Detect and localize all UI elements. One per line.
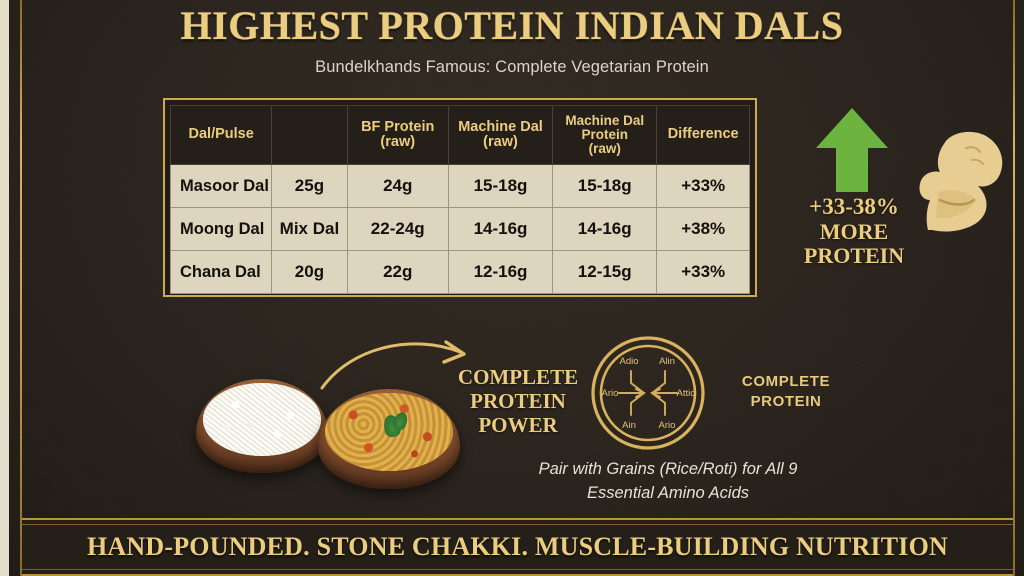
badge-label: Ario xyxy=(659,420,676,431)
cell-machine-protein: 14-16g xyxy=(553,208,657,251)
header-line-1: Machine Dal xyxy=(565,113,644,128)
cp-line-1: COMPLETE xyxy=(742,373,830,390)
complete-protein-label: COMPLETE PROTEIN xyxy=(716,372,856,413)
cell-dal-name: Masoor Dal xyxy=(171,165,272,208)
cell-dal-name: Moong Dal xyxy=(171,208,272,251)
callout-percent: +33-38% xyxy=(786,194,922,220)
cell-difference: +33% xyxy=(657,251,750,294)
cpp-line-1: COMPLETE xyxy=(458,365,578,389)
page-title: HIGHEST PROTEIN INDIAN DALS xyxy=(0,2,1024,49)
cell-mix: 20g xyxy=(272,251,347,294)
table-row: Masoor Dal 25g 24g 15-18g 15-18g +33% xyxy=(171,165,750,208)
badge-label: Adio xyxy=(619,356,638,367)
banner-rule-bottom xyxy=(22,569,1013,570)
cell-machine-dal: 14-16g xyxy=(448,208,552,251)
cell-machine-protein: 15-18g xyxy=(553,165,657,208)
table-header-row: Dal/Pulse BF Protein (raw) Machine Dal (… xyxy=(171,106,750,165)
cell-machine-protein: 12-15g xyxy=(553,251,657,294)
more-protein-callout: +33-38% MORE PROTEIN xyxy=(786,104,1016,294)
page-edge-strip-left xyxy=(0,0,9,576)
cell-machine-dal: 12-16g xyxy=(448,251,552,294)
table-row: Moong Dal Mix Dal 22-24g 14-16g 14-16g +… xyxy=(171,208,750,251)
cell-bf-protein: 22g xyxy=(347,251,448,294)
header-line-1: Difference xyxy=(668,126,739,142)
banner-text: HAND-POUNDED. STONE CHAKKI. MUSCLE-BUILD… xyxy=(87,532,948,562)
column-header-difference: Difference xyxy=(657,106,750,165)
table-row: Chana Dal 20g 22g 12-16g 12-15g +33% xyxy=(171,251,750,294)
flexed-bicep-icon xyxy=(914,126,1018,244)
gold-rule-right xyxy=(1013,0,1015,576)
pair-with-grains-note: Pair with Grains (Rice/Roti) for All 9 E… xyxy=(448,458,888,506)
cell-mix: Mix Dal xyxy=(272,208,347,251)
header-line-2: Protein xyxy=(581,127,628,142)
badge-label: Ain xyxy=(622,420,636,431)
gold-rule-left xyxy=(20,0,22,576)
infographic-poster: HIGHEST PROTEIN INDIAN DALS Bundelkhands… xyxy=(0,0,1024,576)
cell-dal-name: Chana Dal xyxy=(171,251,272,294)
header-line-1: Machine Dal xyxy=(458,119,543,135)
bowl-of-rice-icon xyxy=(196,379,328,473)
column-header-bf-protein: BF Protein (raw) xyxy=(347,106,448,165)
bottom-banner: HAND-POUNDED. STONE CHAKKI. MUSCLE-BUILD… xyxy=(22,518,1013,576)
column-header-blank xyxy=(272,106,347,165)
pair-note-line-2: Essential Amino Acids xyxy=(587,484,749,502)
protein-comparison-table-frame: Dal/Pulse BF Protein (raw) Machine Dal (… xyxy=(163,98,757,297)
cell-difference: +38% xyxy=(657,208,750,251)
header-line-3: (raw) xyxy=(589,141,621,156)
cell-difference: +33% xyxy=(657,165,750,208)
complete-protein-power-label: COMPLETE PROTEIN POWER xyxy=(438,366,598,438)
header-line-2: (raw) xyxy=(380,134,415,150)
page-subtitle: Bundelkhands Famous: Complete Vegetarian… xyxy=(0,58,1024,77)
amino-acid-badge-icon: Adio Alin Ario Attio Ain Ario xyxy=(588,333,708,453)
cell-bf-protein: 24g xyxy=(347,165,448,208)
protein-comparison-table: Dal/Pulse BF Protein (raw) Machine Dal (… xyxy=(170,105,750,294)
badge-label: Alin xyxy=(659,356,675,367)
badge-label: Attio xyxy=(676,388,695,399)
banner-rule-top xyxy=(22,524,1013,525)
column-header-dal-pulse: Dal/Pulse xyxy=(171,106,272,165)
callout-text: +33-38% MORE PROTEIN xyxy=(786,194,922,269)
cell-mix: 25g xyxy=(272,165,347,208)
column-header-machine-dal-protein: Machine Dal Protein (raw) xyxy=(553,106,657,165)
column-header-machine-dal: Machine Dal (raw) xyxy=(448,106,552,165)
header-line-2: (raw) xyxy=(483,134,518,150)
pair-note-line-1: Pair with Grains (Rice/Roti) for All 9 xyxy=(539,460,798,478)
header-line-1: Dal/Pulse xyxy=(189,126,254,142)
header-line-1: BF Protein xyxy=(361,119,434,135)
cp-line-2: PROTEIN xyxy=(751,393,822,410)
cell-machine-dal: 15-18g xyxy=(448,165,552,208)
callout-protein: PROTEIN xyxy=(786,244,922,269)
callout-more: MORE xyxy=(786,220,922,245)
cpp-line-2: PROTEIN POWER xyxy=(470,389,566,437)
badge-label: Ario xyxy=(602,388,619,399)
cell-bf-protein: 22-24g xyxy=(347,208,448,251)
arrow-up-icon xyxy=(814,106,890,194)
